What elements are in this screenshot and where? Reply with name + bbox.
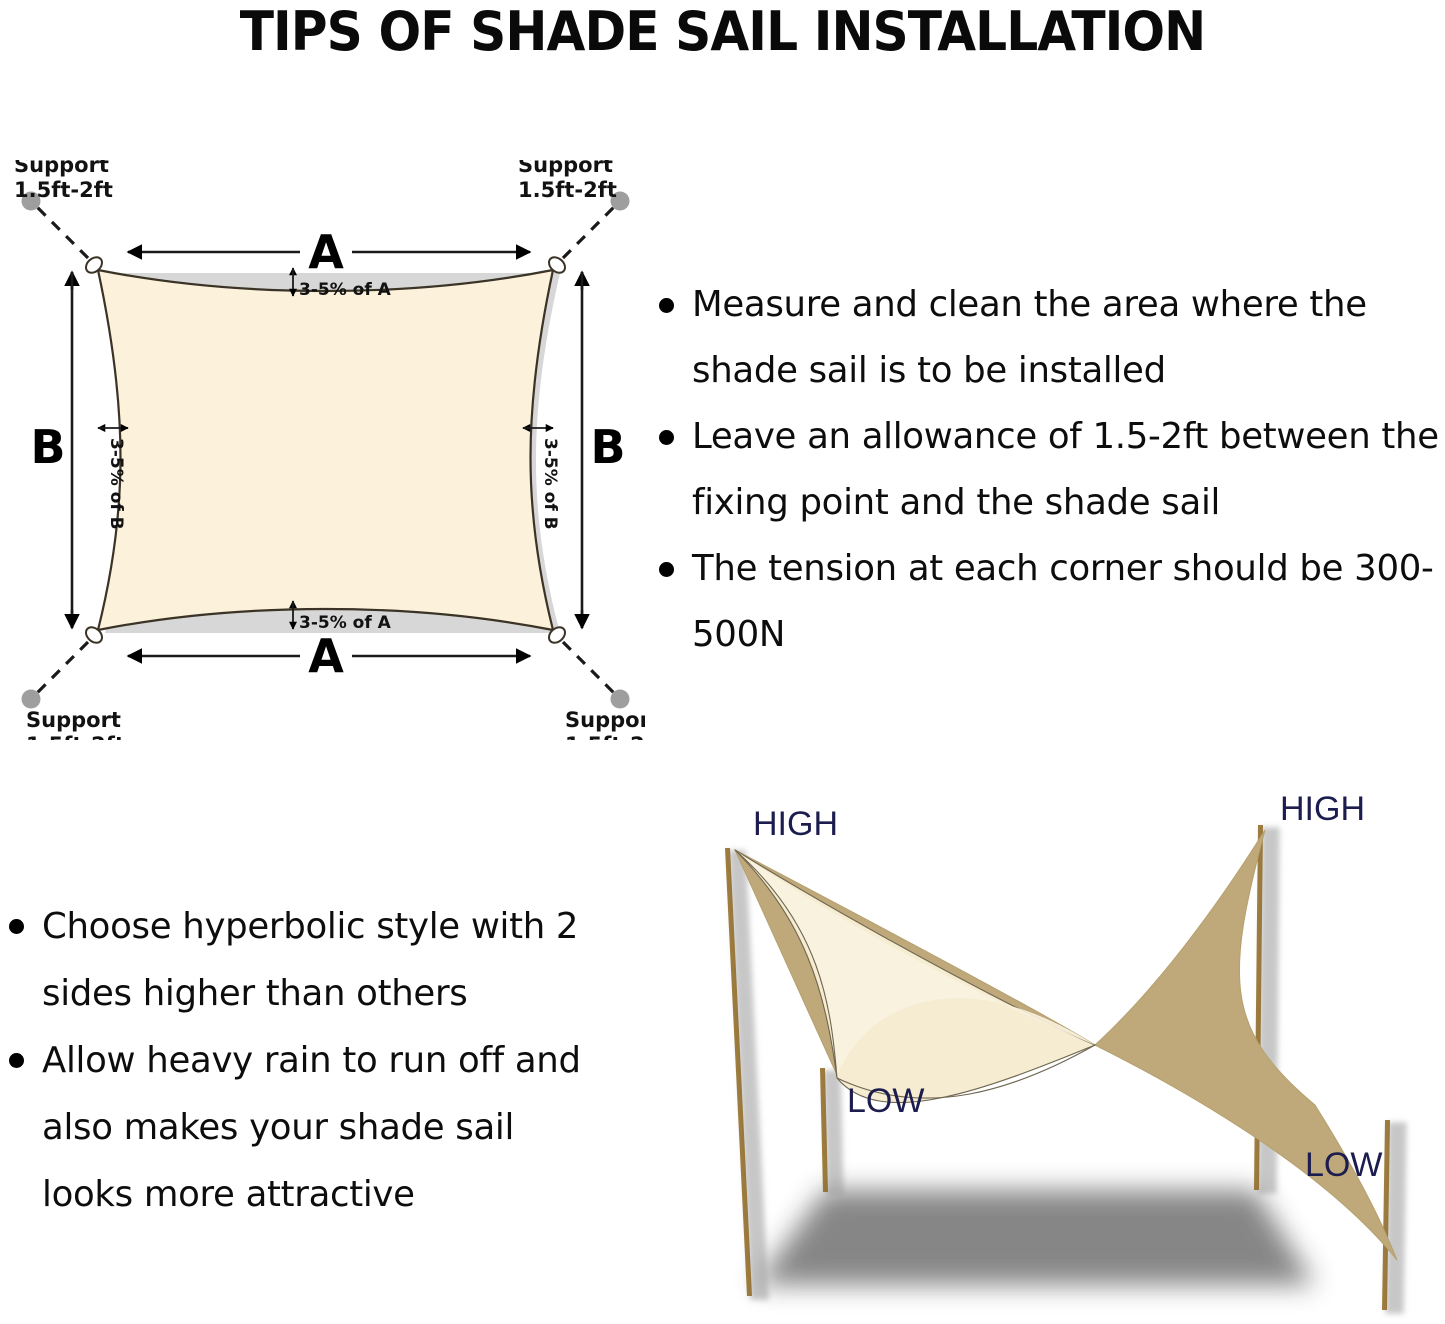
curvature-label-top: 3-5% of A <box>299 280 392 300</box>
label-low-right: LOW <box>1305 1146 1382 1184</box>
list-item: Allow heavy rain to run off and also mak… <box>0 1027 615 1228</box>
dimension-label-bottom-a: A <box>308 629 344 683</box>
bullet-dot-icon <box>9 919 24 934</box>
shade-sail-shape <box>98 270 553 630</box>
support-label-bottom-left: Support 1.5ft-2ft <box>26 708 125 740</box>
hyperbolic-sail-diagram: HIGH HIGH LOW LOW <box>625 790 1445 1319</box>
curvature-label-bottom: 3-5% of A <box>299 613 392 633</box>
list-item-text: The tension at each corner should be 300… <box>692 548 1434 655</box>
bullet-list: Choose hyperbolic style with 2 sides hig… <box>0 893 615 1228</box>
rectangular-sail-svg: Support 1.5ft-2ft Support 1.5ft-2ft Supp… <box>0 160 645 740</box>
dimension-label-left-b: B <box>30 420 65 474</box>
bullet-dot-icon <box>659 298 674 313</box>
curvature-label-right: 3-5% of B <box>540 438 560 530</box>
support-label-bottom-right-line2: 1.5ft-2ft <box>565 733 645 740</box>
list-item-text: Allow heavy rain to run off and also mak… <box>42 1040 581 1215</box>
dimension-label-top-a: A <box>308 225 344 279</box>
list-item-text: Leave an allowance of 1.5-2ft between th… <box>692 416 1439 523</box>
support-label-top-right-line2: 1.5ft-2ft <box>518 178 617 202</box>
sail-panel-cream <box>735 850 1095 1103</box>
curvature-label-left: 3-5% of B <box>106 438 126 530</box>
list-item: The tension at each corner should be 300… <box>650 536 1445 668</box>
support-label-bottom-right: Support 1.5ft-2ft <box>565 708 645 740</box>
pole-low-left <box>820 1068 839 1192</box>
installation-tips-list-bottom: Choose hyperbolic style with 2 sides hig… <box>0 893 615 1228</box>
list-item: Choose hyperbolic style with 2 sides hig… <box>0 893 615 1027</box>
support-label-top-left-line2: 1.5ft-2ft <box>14 178 113 202</box>
list-item-text: Choose hyperbolic style with 2 sides hig… <box>42 906 578 1014</box>
rectangular-sail-diagram: Support 1.5ft-2ft Support 1.5ft-2ft Supp… <box>0 160 645 740</box>
curvature-callout-left: 3-5% of B <box>98 428 128 530</box>
support-label-bottom-right-line1: Support <box>565 708 645 732</box>
bullet-dot-icon <box>659 430 674 445</box>
dimension-label-right-b: B <box>590 420 625 474</box>
bullet-list: Measure and clean the area where the sha… <box>650 272 1445 668</box>
list-item: Measure and clean the area where the sha… <box>650 272 1445 404</box>
support-dot-bottom-left <box>22 690 41 709</box>
installation-tips-list-top: Measure and clean the area where the sha… <box>650 272 1445 668</box>
bullet-dot-icon <box>9 1053 24 1068</box>
support-label-top-left: Support 1.5ft-2ft <box>14 160 113 202</box>
label-low-left: LOW <box>847 1082 924 1120</box>
support-label-top-right: Support 1.5ft-2ft <box>518 160 617 202</box>
support-label-bottom-left-line1: Support <box>26 708 121 732</box>
label-high-left: HIGH <box>753 805 838 843</box>
bullet-dot-icon <box>659 562 674 577</box>
hyperbolic-sail-svg: HIGH HIGH LOW LOW <box>625 790 1445 1319</box>
support-label-top-left-line1: Support <box>14 160 109 177</box>
list-item-text: Measure and clean the area where the sha… <box>692 284 1367 391</box>
pole-low-right <box>1382 1120 1402 1310</box>
support-dot-bottom-right <box>611 690 630 709</box>
ground-shadow <box>755 1190 1315 1285</box>
list-item: Leave an allowance of 1.5-2ft between th… <box>650 404 1445 536</box>
pole-high-left <box>725 848 764 1296</box>
page-title: TIPS OF SHADE SAIL INSTALLATION <box>51 0 1395 62</box>
label-high-right: HIGH <box>1280 790 1365 828</box>
support-label-top-right-line1: Support <box>518 160 613 177</box>
support-label-bottom-left-line2: 1.5ft-2ft <box>26 733 125 740</box>
